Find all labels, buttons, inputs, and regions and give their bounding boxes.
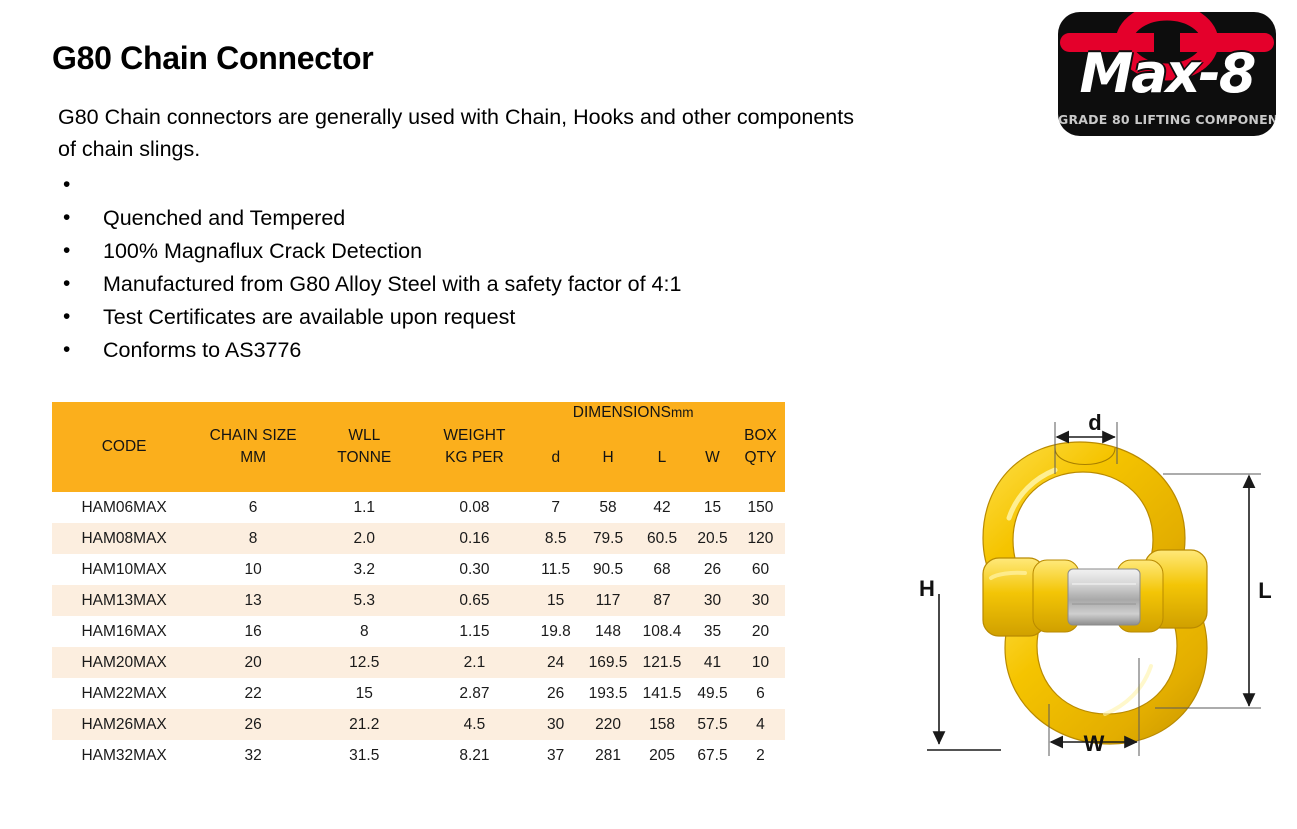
cell-code: HAM13MAX <box>52 585 196 616</box>
specification-table: CODE CHAIN SIZE MM WLL TONNE WEIGHT KG P… <box>52 402 785 771</box>
cell-w: 20.5 <box>689 523 736 554</box>
cell-l: 121.5 <box>635 647 689 678</box>
cell-code: HAM10MAX <box>52 554 196 585</box>
dimension-label-h: H <box>919 576 935 601</box>
header-box-qty: BOX QTY <box>736 402 785 492</box>
cell-chain-size: 10 <box>196 554 310 585</box>
logo-wordmark: Max-8 <box>1058 42 1276 106</box>
cell-weight: 4.5 <box>419 709 531 740</box>
cell-h: 117 <box>581 585 635 616</box>
cell-d: 26 <box>530 678 581 709</box>
cell-w: 57.5 <box>689 709 736 740</box>
max8-logo: Max-8 GRADE 80 LIFTING COMPONENTS <box>1058 12 1276 136</box>
cell-weight: 8.21 <box>419 740 531 771</box>
table-row: HAM10MAX 10 3.2 0.30 11.5 90.5 68 26 60 <box>52 554 785 585</box>
cell-h: 58 <box>581 492 635 523</box>
cell-box-qty: 6 <box>736 678 785 709</box>
header-dimensions-title: DIMENSIONSmm <box>530 402 736 424</box>
cell-l: 68 <box>635 554 689 585</box>
cell-w: 41 <box>689 647 736 678</box>
cell-weight: 0.08 <box>419 492 531 523</box>
dimension-label-d: d <box>1088 410 1101 435</box>
cell-d: 30 <box>530 709 581 740</box>
table-row: HAM08MAX 8 2.0 0.16 8.5 79.5 60.5 20.5 1… <box>52 523 785 554</box>
cell-box-qty: 4 <box>736 709 785 740</box>
table-row: HAM20MAX 20 12.5 2.1 24 169.5 121.5 41 1… <box>52 647 785 678</box>
header-box-qty-line2: QTY <box>745 449 777 466</box>
cell-chain-size: 20 <box>196 647 310 678</box>
cell-chain-size: 8 <box>196 523 310 554</box>
cell-d: 15 <box>530 585 581 616</box>
cell-h: 193.5 <box>581 678 635 709</box>
cell-w: 35 <box>689 616 736 647</box>
header-dim-h: H <box>581 424 635 492</box>
cell-d: 8.5 <box>530 523 581 554</box>
header-chain-size-line2: MM <box>240 449 266 466</box>
cell-wll: 1.1 <box>310 492 419 523</box>
cell-h: 148 <box>581 616 635 647</box>
cell-l: 42 <box>635 492 689 523</box>
cell-l: 60.5 <box>635 523 689 554</box>
cell-box-qty: 150 <box>736 492 785 523</box>
cell-l: 87 <box>635 585 689 616</box>
cell-box-qty: 30 <box>736 585 785 616</box>
cell-weight: 1.15 <box>419 616 531 647</box>
header-wll: WLL TONNE <box>310 402 419 492</box>
header-box-qty-line1: BOX <box>744 427 777 444</box>
cell-chain-size: 16 <box>196 616 310 647</box>
cell-wll: 3.2 <box>310 554 419 585</box>
header-wll-line2: TONNE <box>337 449 391 466</box>
cell-wll: 21.2 <box>310 709 419 740</box>
cell-chain-size: 13 <box>196 585 310 616</box>
cell-code: HAM20MAX <box>52 647 196 678</box>
cell-code: HAM16MAX <box>52 616 196 647</box>
cell-code: HAM26MAX <box>52 709 196 740</box>
cell-h: 281 <box>581 740 635 771</box>
cell-box-qty: 20 <box>736 616 785 647</box>
cell-w: 67.5 <box>689 740 736 771</box>
dimension-label-l: L <box>1258 578 1271 603</box>
header-dimensions-unit: mm <box>671 405 694 420</box>
cell-w: 15 <box>689 492 736 523</box>
table-header-row: CODE CHAIN SIZE MM WLL TONNE WEIGHT KG P… <box>52 402 785 492</box>
cell-box-qty: 60 <box>736 554 785 585</box>
steel-pin <box>1068 569 1140 625</box>
page-title: G80 Chain Connector <box>52 40 373 77</box>
cell-h: 220 <box>581 709 635 740</box>
datasheet-page: G80 Chain Connector G80 Chain connectors… <box>0 0 1297 829</box>
table-row: HAM06MAX 6 1.1 0.08 7 58 42 15 150 <box>52 492 785 523</box>
cell-l: 108.4 <box>635 616 689 647</box>
cell-wll: 31.5 <box>310 740 419 771</box>
cell-weight: 0.65 <box>419 585 531 616</box>
table-row: HAM16MAX 16 8 1.15 19.8 148 108.4 35 20 <box>52 616 785 647</box>
cell-l: 158 <box>635 709 689 740</box>
cell-h: 169.5 <box>581 647 635 678</box>
logo-tagline: GRADE 80 LIFTING COMPONENTS <box>1058 112 1276 127</box>
cell-chain-size: 32 <box>196 740 310 771</box>
cell-h: 79.5 <box>581 523 635 554</box>
header-dimensions-label: DIMENSIONS <box>573 404 671 421</box>
cell-w: 49.5 <box>689 678 736 709</box>
table-row: HAM26MAX 26 21.2 4.5 30 220 158 57.5 4 <box>52 709 785 740</box>
header-weight: WEIGHT KG PER <box>419 402 531 492</box>
cell-wll: 8 <box>310 616 419 647</box>
cell-weight: 2.87 <box>419 678 531 709</box>
cell-wll: 5.3 <box>310 585 419 616</box>
list-item: Manufactured from G80 Alloy Steel with a… <box>58 268 888 301</box>
header-chain-size-line1: CHAIN SIZE <box>210 427 297 444</box>
header-dim-w: W <box>689 424 736 492</box>
header-dimensions-group: DIMENSIONSmm d H L W <box>530 402 736 492</box>
list-item: 100% Magnaflux Crack Detection <box>58 235 888 268</box>
list-item: Conforms to AS3776 <box>58 334 888 367</box>
cell-d: 11.5 <box>530 554 581 585</box>
list-item: Quenched and Tempered <box>58 202 888 235</box>
cell-chain-size: 22 <box>196 678 310 709</box>
cell-box-qty: 10 <box>736 647 785 678</box>
cell-wll: 2.0 <box>310 523 419 554</box>
dimension-label-w: W <box>1084 731 1105 756</box>
table-row: HAM22MAX 22 15 2.87 26 193.5 141.5 49.5 … <box>52 678 785 709</box>
table-row: HAM32MAX 32 31.5 8.21 37 281 205 67.5 2 <box>52 740 785 771</box>
chain-connector-illustration <box>983 442 1207 744</box>
cell-weight: 0.16 <box>419 523 531 554</box>
cell-d: 24 <box>530 647 581 678</box>
cell-wll: 15 <box>310 678 419 709</box>
cell-weight: 0.30 <box>419 554 531 585</box>
header-chain-size: CHAIN SIZE MM <box>196 402 310 492</box>
product-diagram: d L H W <box>905 408 1285 778</box>
cell-d: 19.8 <box>530 616 581 647</box>
cell-chain-size: 6 <box>196 492 310 523</box>
cell-l: 205 <box>635 740 689 771</box>
header-wll-line1: WLL <box>348 427 380 444</box>
cell-l: 141.5 <box>635 678 689 709</box>
header-dim-d: d <box>530 424 581 492</box>
cell-weight: 2.1 <box>419 647 531 678</box>
table-body: HAM06MAX 6 1.1 0.08 7 58 42 15 150 HAM08… <box>52 492 785 771</box>
table-row: HAM13MAX 13 5.3 0.65 15 117 87 30 30 <box>52 585 785 616</box>
cell-w: 30 <box>689 585 736 616</box>
cell-code: HAM08MAX <box>52 523 196 554</box>
header-dim-l: L <box>635 424 689 492</box>
cell-box-qty: 2 <box>736 740 785 771</box>
cell-box-qty: 120 <box>736 523 785 554</box>
list-item <box>58 169 888 202</box>
intro-paragraph: G80 Chain connectors are generally used … <box>58 101 858 165</box>
cell-chain-size: 26 <box>196 709 310 740</box>
cell-code: HAM32MAX <box>52 740 196 771</box>
cell-d: 7 <box>530 492 581 523</box>
cell-code: HAM22MAX <box>52 678 196 709</box>
cell-w: 26 <box>689 554 736 585</box>
feature-list: Quenched and Tempered 100% Magnaflux Cra… <box>58 169 888 367</box>
header-weight-line2: KG PER <box>445 449 504 466</box>
cell-h: 90.5 <box>581 554 635 585</box>
cell-code: HAM06MAX <box>52 492 196 523</box>
cell-d: 37 <box>530 740 581 771</box>
list-item: Test Certificates are available upon req… <box>58 301 888 334</box>
cell-wll: 12.5 <box>310 647 419 678</box>
header-code: CODE <box>52 402 196 492</box>
header-weight-line1: WEIGHT <box>443 427 505 444</box>
